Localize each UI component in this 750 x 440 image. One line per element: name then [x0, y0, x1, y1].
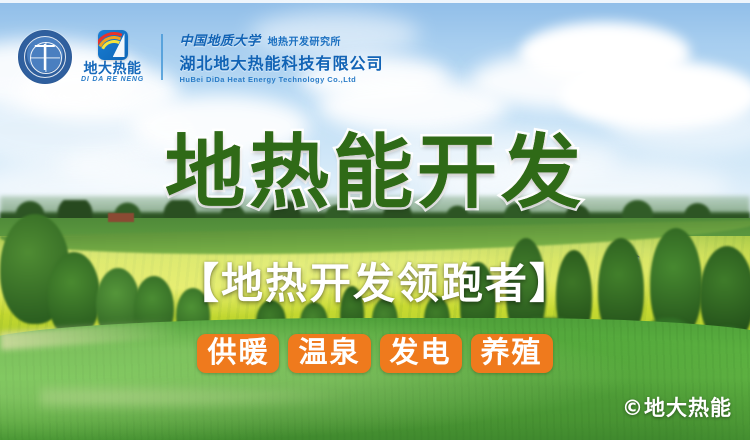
- organization-text-block: 中国地质大学 地热开发研究所 湖北地大热能科技有限公司 HuBei DiDa H…: [180, 30, 384, 84]
- company-name-cn: 湖北地大热能科技有限公司: [180, 50, 384, 74]
- company-name-en: HuBei DiDa Heat Energy Technology Co.,Lt…: [180, 75, 384, 84]
- brandmark-en-label: DI DA RE NENG: [81, 76, 144, 84]
- brandmark-cn-label: 地大热能: [84, 61, 142, 76]
- barn-shape: [108, 213, 134, 222]
- university-name: 中国地质大学: [180, 30, 261, 49]
- copyright-watermark: ©地大热能: [622, 392, 732, 422]
- meadow-path: [40, 382, 360, 412]
- institute-name: 地热开发研究所: [268, 33, 342, 48]
- hero-subtitle: 【地热开发领跑者】: [0, 250, 750, 311]
- service-tag[interactable]: 温泉: [288, 334, 370, 373]
- dida-cube-logo-icon: [98, 30, 128, 60]
- dida-brandmark: 地大热能 DI DA RE NENG: [81, 30, 144, 83]
- service-tag[interactable]: 发电: [380, 334, 462, 373]
- header-divider: [161, 34, 163, 80]
- service-tag[interactable]: 供暖: [197, 334, 279, 373]
- geothermal-promo-banner: 地大热能 DI DA RE NENG 中国地质大学 地热开发研究所 湖北地大热能…: [0, 0, 750, 440]
- service-tag[interactable]: 养殖: [471, 334, 553, 373]
- brand-header: 地大热能 DI DA RE NENG 中国地质大学 地热开发研究所 湖北地大热能…: [18, 30, 384, 84]
- university-seal-icon: [18, 30, 72, 84]
- page-title: 地热能开发: [0, 133, 750, 213]
- service-tag-list: 供暖 温泉 发电 养殖: [0, 334, 750, 373]
- top-white-strip: [0, 0, 750, 3]
